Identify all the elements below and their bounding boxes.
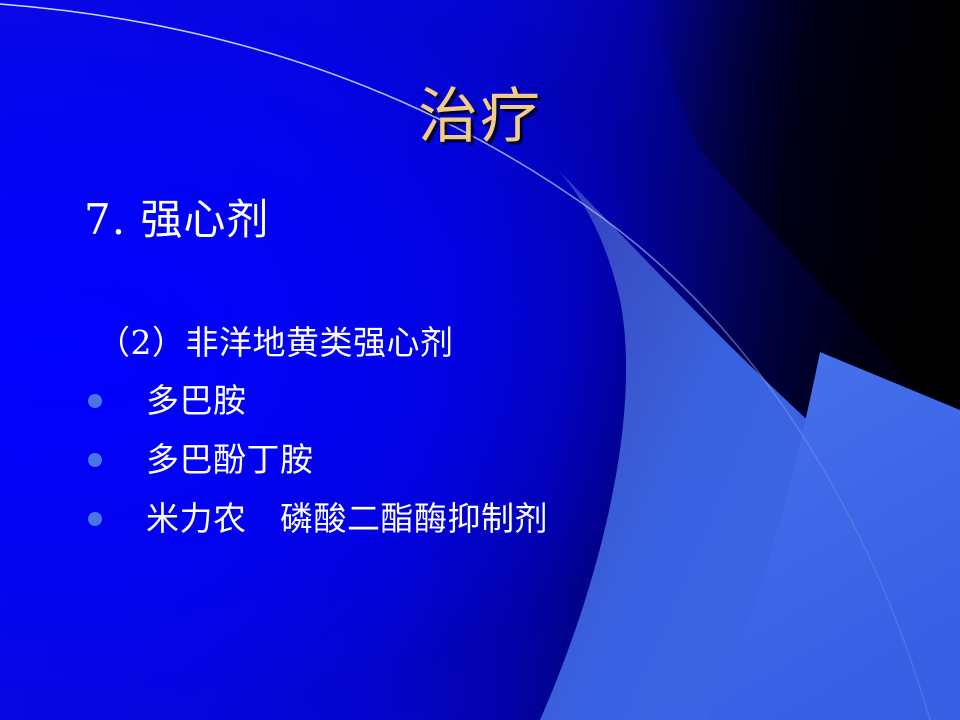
list-item-label: 多巴胺 — [146, 382, 247, 420]
list-item: 多巴胺 — [84, 378, 804, 424]
slide-title: 治疗 — [0, 86, 960, 149]
list-item: 多巴酚丁胺 — [84, 437, 804, 483]
list-item-label: 多巴酚丁胺 — [146, 441, 314, 479]
content-body: （2）非洋地黄类强心剂 多巴胺 多巴酚丁胺 米力农 磷酸二酯酶抑制剂 — [84, 324, 804, 555]
bullet-dot-icon — [88, 512, 102, 526]
bullet-dot-icon — [88, 394, 102, 408]
list-item-label: 米力农 磷酸二酯酶抑制剂 — [146, 500, 548, 538]
section-heading: 7. 强心剂 — [84, 196, 269, 243]
bullet-dot-icon — [88, 453, 102, 467]
content-lead-line: （2）非洋地黄类强心剂 — [97, 324, 804, 362]
list-item: 米力农 磷酸二酯酶抑制剂 — [84, 496, 804, 542]
slide-canvas: 治疗 7. 强心剂 （2）非洋地黄类强心剂 多巴胺 多巴酚丁胺 米力农 磷酸二酯… — [0, 0, 960, 720]
